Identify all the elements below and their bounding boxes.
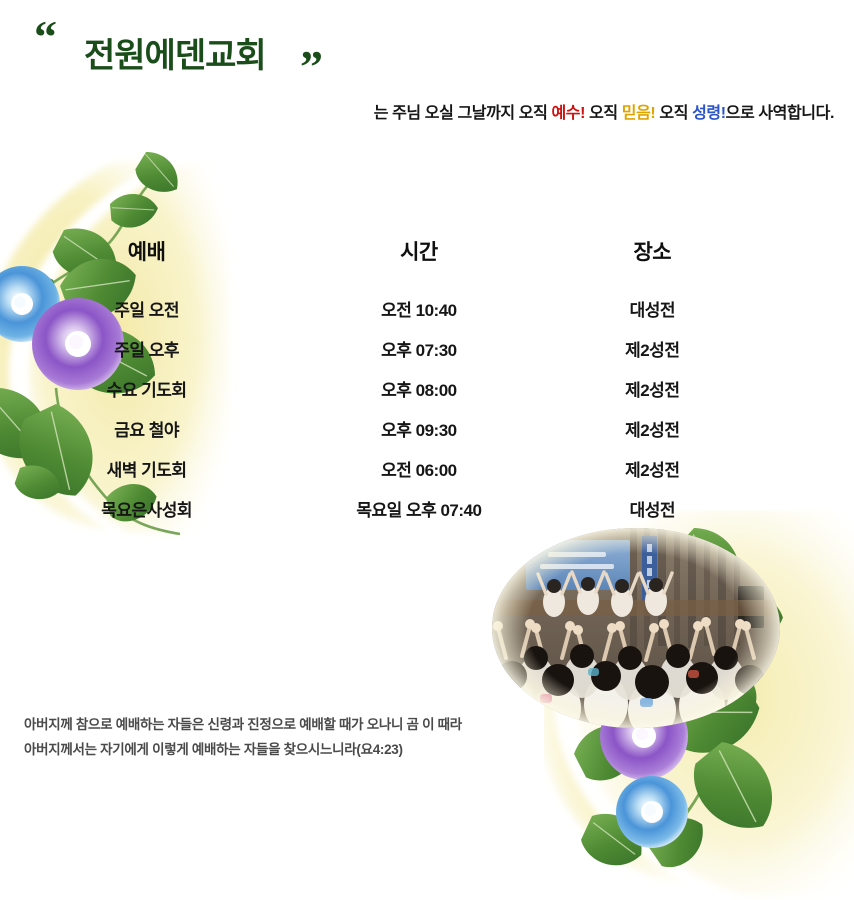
page-title: 전원에덴교회 (84, 28, 266, 77)
cell-service: 금요 철야 (0, 408, 293, 448)
cell-time: 오후 08:00 (293, 368, 544, 408)
worship-schedule-table: 예배 시간 장소 주일 오전 오전 10:40 대성전 주일 오후 오후 07:… (0, 236, 760, 528)
leaf (107, 189, 161, 232)
cell-service: 목요은사성회 (0, 488, 293, 528)
cell-place: 제2성전 (545, 328, 760, 368)
cell-place: 대성전 (545, 488, 760, 528)
leaf (577, 808, 650, 873)
table-row: 수요 기도회 오후 08:00 제2성전 (0, 368, 760, 408)
table-row: 목요은사성회 목요일 오후 07:40 대성전 (0, 488, 760, 528)
cell-service: 주일 오전 (0, 288, 293, 328)
leaf (678, 731, 792, 845)
worship-congregation-photo (492, 528, 780, 728)
cell-time: 오전 06:00 (293, 448, 544, 488)
cell-time: 오후 07:30 (293, 328, 544, 368)
verse-line-2: 아버지께서는 자기에게 이렇게 예배하는 자들을 찾으시느니라(요4:23) (24, 738, 544, 763)
table-header-row: 예배 시간 장소 (0, 236, 760, 288)
tagline-part-2: 오직 (585, 105, 622, 122)
bible-verse-caption: 아버지께 참으로 예배하는 자들은 신령과 진정으로 예배할 때가 오나니 곰 … (24, 713, 544, 763)
table-row: 주일 오후 오후 07:30 제2성전 (0, 328, 760, 368)
leaf (130, 148, 187, 200)
closing-quote-mark: ” (300, 44, 323, 90)
church-tagline: 는 주님 오실 그날까지 오직 예수! 오직 믿음! 오직 성령!으로 사역합니… (0, 99, 834, 123)
tagline-part-4: 으로 사역합니다. (726, 105, 834, 122)
verse-line-1: 아버지께 참으로 예배하는 자들은 신령과 진정으로 예배할 때가 오나니 곰 … (24, 713, 544, 738)
column-header-service: 예배 (0, 236, 293, 288)
leaf (641, 804, 714, 876)
worship-schedule: 예배 시간 장소 주일 오전 오전 10:40 대성전 주일 오후 오후 07:… (0, 236, 760, 528)
cell-time: 오후 09:30 (293, 408, 544, 448)
column-header-place: 장소 (545, 236, 760, 288)
cell-service: 수요 기도회 (0, 368, 293, 408)
cell-place: 제2성전 (545, 408, 760, 448)
tagline-emphasis-faith: 믿음! (622, 105, 656, 122)
cell-time: 오전 10:40 (293, 288, 544, 328)
tagline-emphasis-jesus: 예수! (551, 105, 585, 122)
table-row: 새벽 기도회 오전 06:00 제2성전 (0, 448, 760, 488)
page-header: “ 전원에덴교회 ” 는 주님 오실 그날까지 오직 예수! 오직 믿음! 오직… (0, 0, 854, 140)
cell-service: 주일 오후 (0, 328, 293, 368)
morning-glory-blue-flower (616, 776, 688, 848)
cell-place: 제2성전 (545, 368, 760, 408)
cell-time: 목요일 오후 07:40 (293, 488, 544, 528)
table-row: 금요 철야 오후 09:30 제2성전 (0, 408, 760, 448)
tagline-emphasis-spirit: 성령! (692, 105, 726, 122)
cell-place: 대성전 (545, 288, 760, 328)
tagline-part-3: 오직 (655, 105, 692, 122)
tagline-part-1: 는 주님 오실 그날까지 오직 (374, 105, 552, 122)
table-row: 주일 오전 오전 10:40 대성전 (0, 288, 760, 328)
opening-quote-mark: “ (34, 14, 57, 60)
cell-place: 제2성전 (545, 448, 760, 488)
cell-service: 새벽 기도회 (0, 448, 293, 488)
column-header-time: 시간 (293, 236, 544, 288)
